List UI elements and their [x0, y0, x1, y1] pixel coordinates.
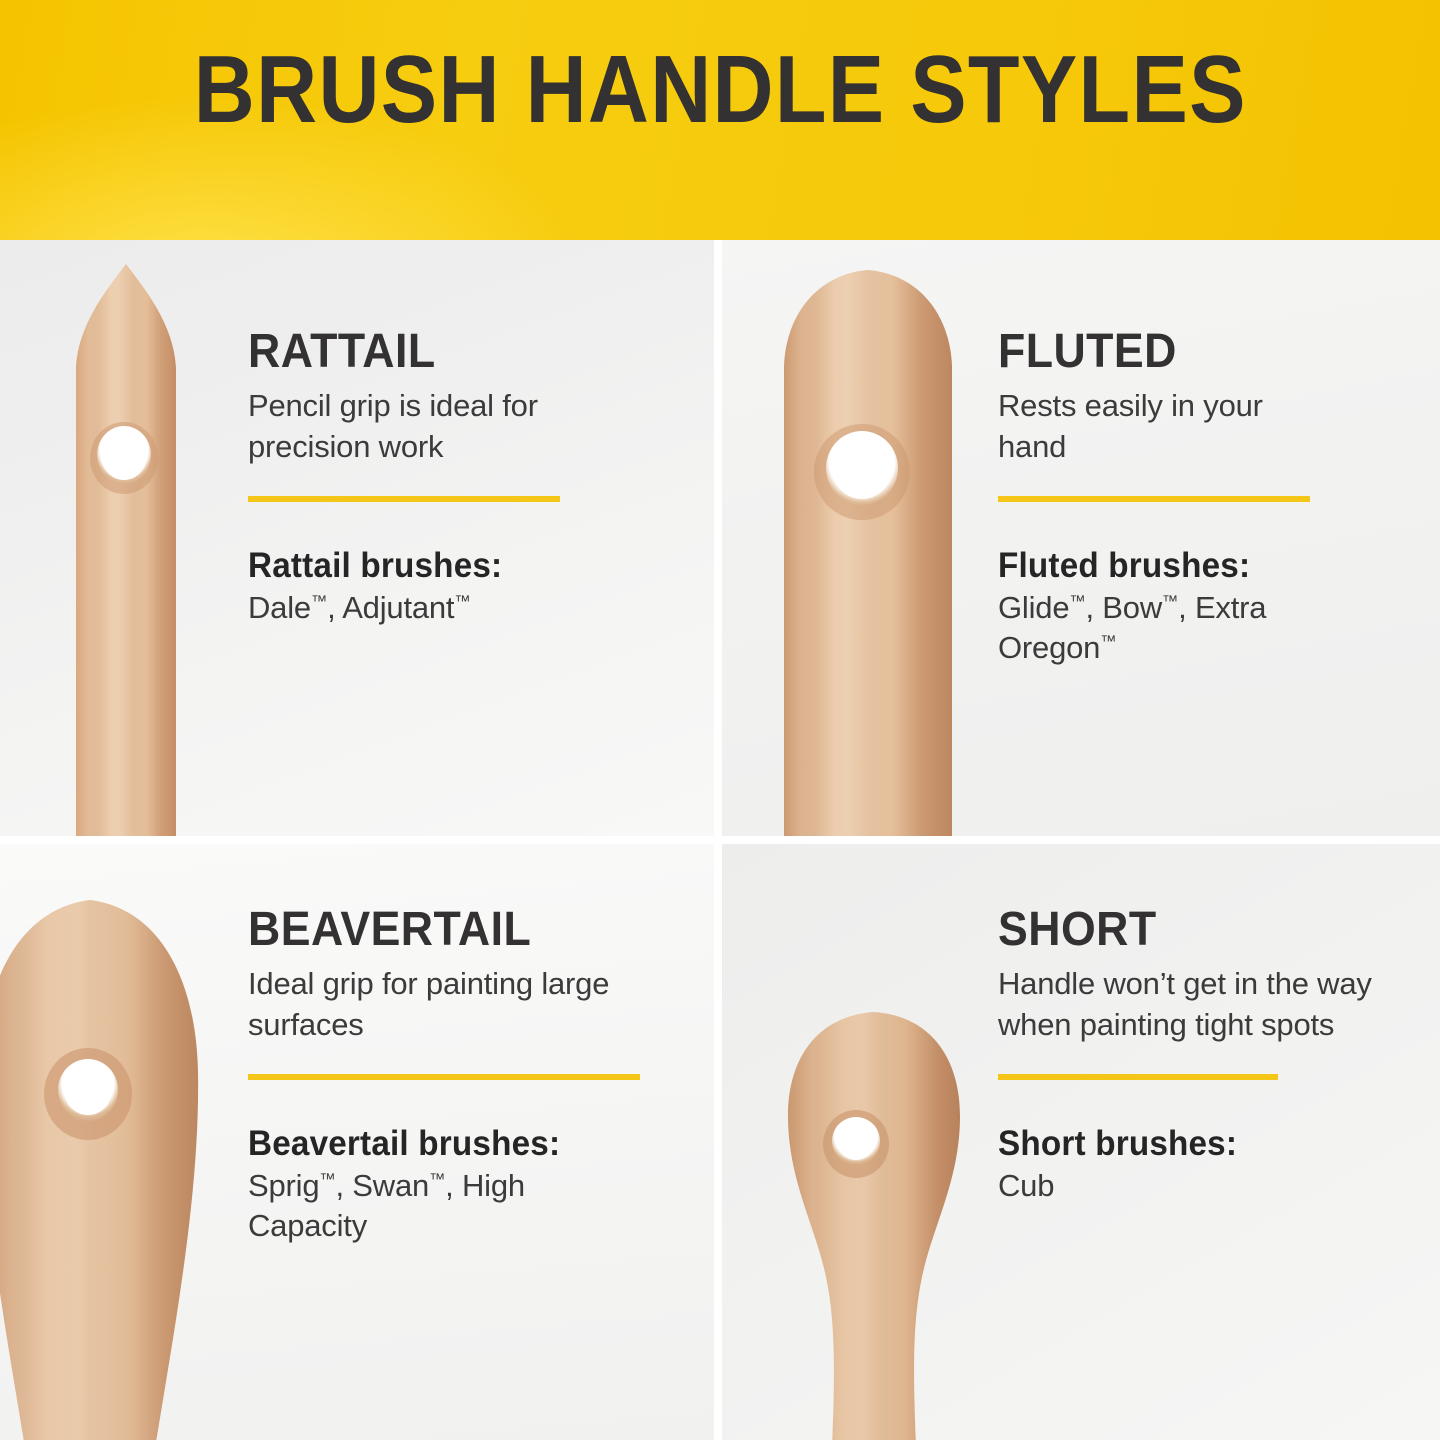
- infographic-page: BRUSH HANDLE STYLES: [0, 0, 1440, 1440]
- fluted-handle-image: [772, 266, 972, 836]
- accent-rule: [998, 496, 1310, 502]
- brushes-list: Cub: [998, 1166, 1406, 1206]
- style-name: BEAVERTAIL: [248, 906, 620, 955]
- header-banner: BRUSH HANDLE STYLES: [0, 0, 1440, 240]
- beavertail-text-block: BEAVERTAIL Ideal grip for painting large…: [248, 906, 648, 1247]
- accent-rule: [248, 1074, 640, 1080]
- brushes-list: Sprig™, Swan™, High Capacity: [248, 1166, 648, 1247]
- style-description: Handle won’t get in the way when paintin…: [998, 963, 1406, 1046]
- accent-rule: [248, 496, 560, 502]
- brushes-list: Dale™, Adjutant™: [248, 588, 598, 628]
- page-title: BRUSH HANDLE STYLES: [193, 42, 1246, 138]
- quadrant-short: SHORT Handle won’t get in the way when p…: [722, 844, 1440, 1440]
- style-description: Ideal grip for painting large surfaces: [248, 963, 648, 1046]
- rattail-text-block: RATTAIL Pencil grip is ideal for precisi…: [248, 328, 598, 628]
- style-name: FLUTED: [998, 328, 1314, 377]
- brushes-label: Rattail brushes:: [248, 546, 581, 586]
- style-description: Pencil grip is ideal for precision work: [248, 385, 598, 468]
- quadrant-fluted: FLUTED Rests easily in your hand Fluted …: [722, 240, 1440, 836]
- brushes-label: Fluted brushes:: [998, 546, 1321, 586]
- brushes-label: Short brushes:: [998, 1124, 1386, 1164]
- short-text-block: SHORT Handle won’t get in the way when p…: [998, 906, 1406, 1206]
- quadrant-beavertail: BEAVERTAIL Ideal grip for painting large…: [0, 844, 714, 1440]
- style-description: Rests easily in your hand: [998, 385, 1338, 468]
- brushes-label: Beavertail brushes:: [248, 1124, 628, 1164]
- quadrant-grid: RATTAIL Pencil grip is ideal for precisi…: [0, 240, 1440, 1440]
- brushes-list: Glide™, Bow™, Extra Oregon™: [998, 588, 1338, 669]
- accent-rule: [998, 1074, 1278, 1080]
- rattail-handle-image: [56, 262, 196, 836]
- quadrant-rattail: RATTAIL Pencil grip is ideal for precisi…: [0, 240, 714, 836]
- short-handle-image: [764, 1006, 984, 1440]
- style-name: RATTAIL: [248, 328, 574, 377]
- fluted-text-block: FLUTED Rests easily in your hand Fluted …: [998, 328, 1338, 669]
- beavertail-handle-image: [0, 890, 220, 1440]
- style-name: SHORT: [998, 906, 1377, 955]
